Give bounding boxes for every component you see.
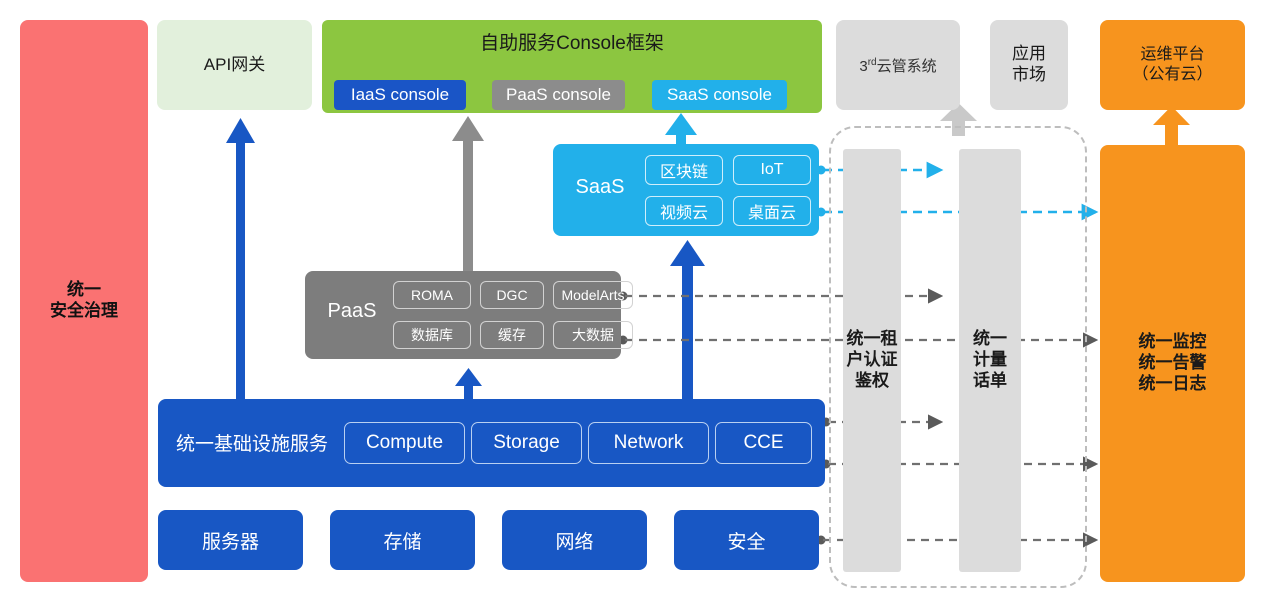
unified-tenant-auth-label: 统一租 户认证 鉴权 [847,329,898,391]
arrow-infra-to-paas [455,368,482,401]
arrow-saas-to-console [665,113,697,146]
saas-chip-desktop-cloud[interactable]: 桌面云 [733,196,811,226]
saas-chip-iot[interactable]: IoT [733,155,811,185]
paas-chip-database[interactable]: 数据库 [393,321,471,349]
resource-box-storage[interactable]: 存储 [330,510,475,570]
paas-chip-cache[interactable]: 缓存 [480,321,544,349]
console-framework-box[interactable]: 自助服务Console框架 IaaS console PaaS console … [322,20,822,113]
third-cloud-label: 3rd云管系统 [859,55,936,76]
third-cloud-superscript: rd [868,57,877,68]
saas-layer-box[interactable]: SaaS 区块链 IoT 视频云 桌面云 [553,144,819,236]
ops-platform-label: 运维平台 （公有云） [1132,45,1212,84]
architecture-diagram: 统一 安全治理 API网关 自助服务Console框架 IaaS console… [0,0,1265,605]
ops-monitoring-column[interactable]: 统一监控 统一告警 统一日志 [1100,145,1245,582]
resource-box-server[interactable]: 服务器 [158,510,303,570]
paas-chip-roma[interactable]: ROMA [393,281,471,309]
api-gateway-label: API网关 [204,55,265,76]
api-gateway-box[interactable]: API网关 [157,20,312,110]
saas-console-chip[interactable]: SaaS console [652,80,787,110]
resource-box-network[interactable]: 网络 [502,510,647,570]
unified-infrastructure-title: 统一基础设施服务 [176,429,328,456]
infra-chip-compute[interactable]: Compute [344,422,465,464]
unified-metering-billing-label: 统一 计量 话单 [973,329,1007,391]
paas-chip-bigdata[interactable]: 大数据 [553,321,633,349]
third-party-cloud-management-box[interactable]: 3rd云管系统 [836,20,960,110]
resource-box-security[interactable]: 安全 [674,510,819,570]
security-governance-column[interactable]: 统一 安全治理 [20,20,148,582]
arrow-paas-to-console [452,116,484,273]
saas-chip-blockchain[interactable]: 区块链 [645,155,723,185]
console-framework-title: 自助服务Console框架 [322,28,822,55]
arrow-infra-to-api-gateway [226,118,255,400]
infra-chip-storage[interactable]: Storage [471,422,582,464]
app-market-box[interactable]: 应用 市场 [990,20,1068,110]
paas-chip-modelarts[interactable]: ModelArts [553,281,633,309]
ops-platform-box[interactable]: 运维平台 （公有云） [1100,20,1245,110]
arrow-ops-column-to-platform [1153,106,1190,146]
paas-chip-dgc[interactable]: DGC [480,281,544,309]
infra-chip-cce[interactable]: CCE [715,422,812,464]
unified-infrastructure-box[interactable]: 统一基础设施服务 Compute Storage Network CCE [158,399,825,487]
saas-layer-title: SaaS [565,176,635,199]
iaas-console-chip[interactable]: IaaS console [334,80,466,110]
saas-chip-video-cloud[interactable]: 视频云 [645,196,723,226]
infra-chip-network[interactable]: Network [588,422,709,464]
app-market-label: 应用 市场 [1012,44,1046,85]
unified-tenant-auth-column[interactable]: 统一租 户认证 鉴权 [843,149,901,572]
ops-monitoring-label: 统一监控 统一告警 统一日志 [1139,332,1207,394]
paas-layer-title: PaaS [315,300,389,323]
security-governance-label: 统一 安全治理 [50,280,118,321]
paas-console-chip[interactable]: PaaS console [492,80,625,110]
arrow-infra-to-saas [670,240,705,401]
paas-layer-box[interactable]: PaaS ROMA DGC ModelArts 数据库 缓存 大数据 [305,271,621,359]
unified-metering-billing-column[interactable]: 统一 计量 话单 [959,149,1021,572]
